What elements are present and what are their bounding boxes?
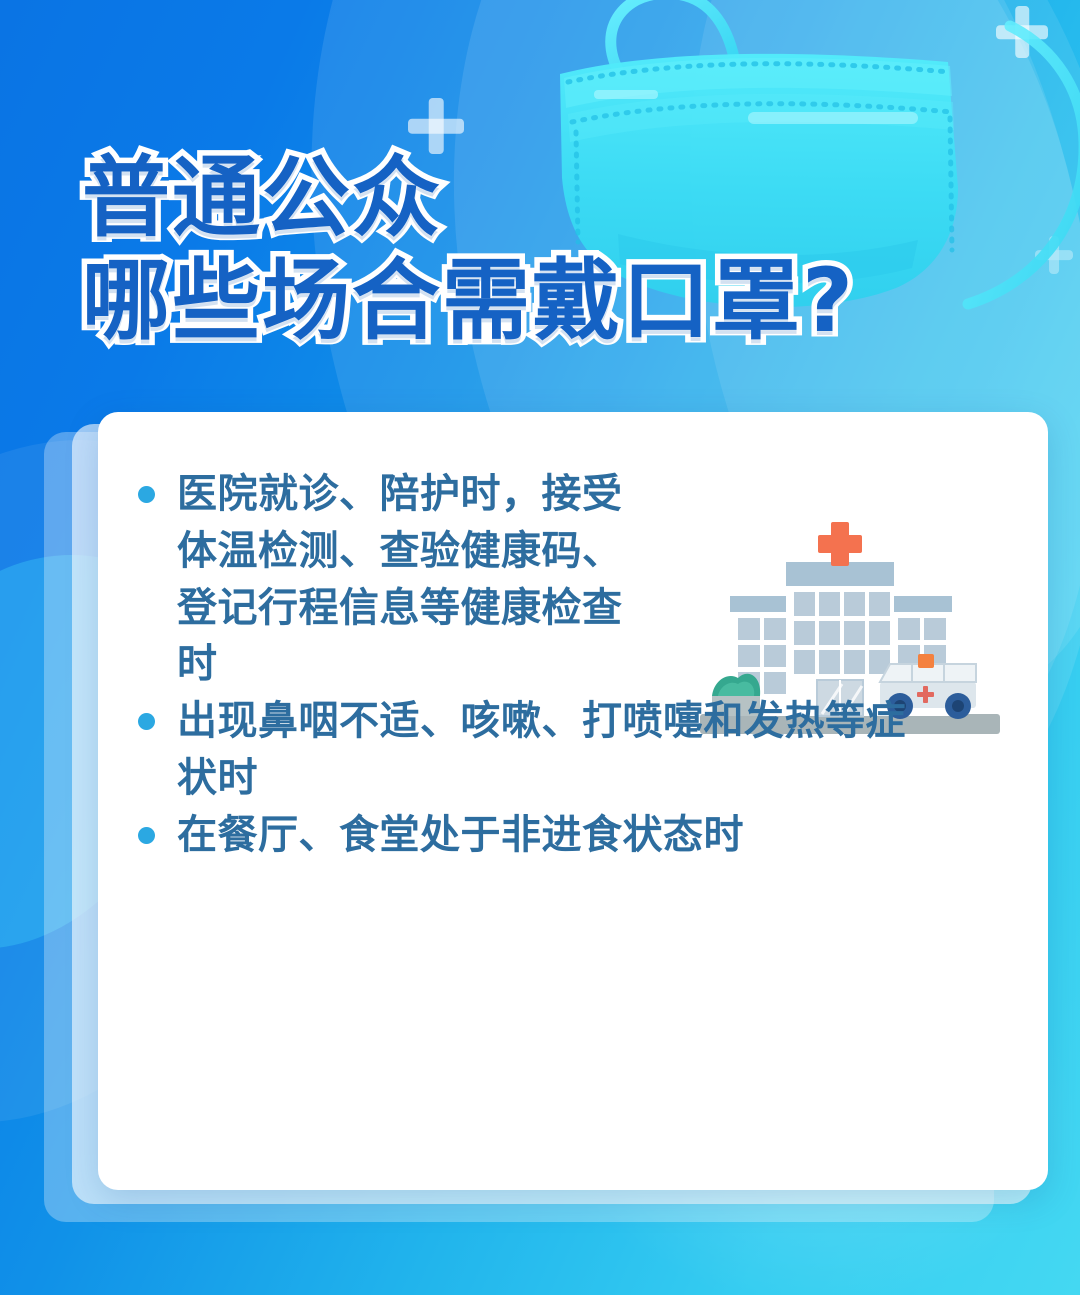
title-line-1: 普通公众 [82,150,855,245]
plus-icon [996,6,1048,58]
bullet-dot-icon [138,486,155,503]
title-line-2: 哪些场合需戴口罩? [82,253,855,348]
plus-icon [1035,236,1073,274]
bullet-dot-icon [138,713,155,730]
list-item-text: 医院就诊、陪护时，接受体温检测、查验健康码、登记行程信息等健康检查时 [177,466,655,693]
list-item-text: 在餐厅、食堂处于非进食状态时 [177,807,744,864]
list-item-text: 出现鼻咽不适、咳嗽、打喷嚏和发热等症状时 [177,693,919,807]
poster-title: 普通公众 哪些场合需戴口罩? [82,150,855,348]
list-item: 在餐厅、食堂处于非进食状态时 [138,807,1018,864]
bullet-dot-icon [138,827,155,844]
list-item: 出现鼻咽不适、咳嗽、打喷嚏和发热等症状时 [138,693,1018,807]
content-card: 医院就诊、陪护时，接受体温检测、查验健康码、登记行程信息等健康检查时 出现鼻咽不… [98,412,1048,1190]
bullet-list: 医院就诊、陪护时，接受体温检测、查验健康码、登记行程信息等健康检查时 出现鼻咽不… [138,460,1018,864]
list-item: 医院就诊、陪护时，接受体温检测、查验健康码、登记行程信息等健康检查时 [138,466,1018,693]
poster-canvas: 普通公众 哪些场合需戴口罩? [0,0,1080,1295]
